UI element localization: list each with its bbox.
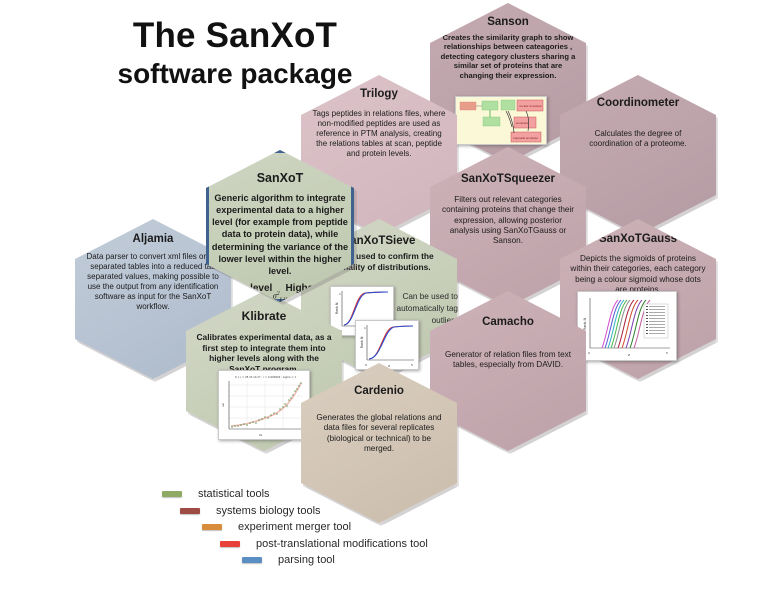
svg-text:f( x ) = 28.33 x0.27 ; r = 0.9: f( x ) = 28.33 x0.27 ; r = 0.999929 ; si… (235, 375, 296, 379)
svg-text:Rank N: Rank N (360, 336, 364, 348)
legend-swatch (220, 541, 240, 547)
legend-label: parsing tool (278, 554, 335, 566)
legend-swatch (202, 524, 222, 530)
variance-scatter-plot-thumbnail: f( x ) = 28.33 x0.27 ; r = 0.999929 ; si… (218, 370, 310, 440)
hexagon-aljamia-description: Data parser to convert xml files or tab … (83, 252, 223, 312)
legend-item-statistical-tools: statistical tools (162, 488, 480, 500)
legend-swatch (162, 491, 182, 497)
hexagon-klibrate-description: Calibrates experimental data, as a first… (195, 332, 332, 374)
svg-text:5: 5 (666, 351, 668, 355)
legend-item-experiment-merger-tool: experiment merger tool (202, 521, 480, 533)
svg-text:1: 1 (339, 292, 341, 296)
multi-sigmoid-plot-thumbnail: Rank N 0 Z 5 (577, 291, 677, 361)
axis-label-rank: Rank N (583, 317, 587, 330)
svg-text:envelope: envelope (516, 121, 528, 125)
svg-text:nuclear envelope: nuclear envelope (519, 104, 542, 108)
hexagon-coordinometer-description: Calculates the degree of coordination of… (572, 129, 703, 149)
svg-text:Rank N: Rank N (335, 302, 339, 314)
svg-text:0: 0 (588, 351, 590, 355)
title-line-1: The SanXoT (70, 18, 400, 54)
legend-swatch (180, 508, 200, 514)
hexagon-sanxotsqueezer-description: Filters out relevant categories containi… (441, 195, 575, 246)
hexagon-trilogy-description: Tags peptides in relations files, where … (310, 109, 447, 159)
legend-label: statistical tools (198, 488, 270, 500)
legend-swatch (242, 557, 262, 563)
legend-item-parsing-tool: parsing tool (242, 554, 480, 566)
svg-text:Z: Z (628, 353, 630, 357)
legend-item-systems-biology-tools: systems biology tools (180, 505, 480, 517)
svg-text:5: 5 (411, 363, 413, 367)
hexagon-sanson-title: Sanson (430, 16, 586, 28)
poster-canvas: The SanXoT software package Sanson Creat… (0, 0, 778, 599)
svg-text:organelle envelope: organelle envelope (513, 136, 538, 140)
legend-item-ptm-tool: post-translational modifications tool (220, 538, 480, 550)
legend: statistical tools systems biology tools … (150, 488, 480, 571)
page-title: The SanXoT software package (70, 18, 400, 91)
svg-text:Z: Z (388, 364, 390, 368)
hexagon-sanson-description: Creates the similarity graph to show rel… (438, 33, 578, 80)
similarity-graph-thumbnail: nuclear envelope envelope organelle enve… (455, 96, 547, 145)
svg-text:1: 1 (364, 326, 366, 330)
legend-label: post-translational modifications tool (256, 538, 428, 550)
sigmoid-plot-thumbnail-2: Rank N 0 Z 5 1 (355, 320, 419, 370)
title-line-2: software package (70, 56, 400, 91)
svg-text:0: 0 (365, 363, 367, 367)
hexagon-sanxot-description: Generic algorithm to integrate experimen… (210, 192, 349, 277)
legend-label: systems biology tools (216, 505, 321, 517)
hexagon-camacho-description: Generator of relation files from text ta… (441, 350, 575, 371)
legend-label: experiment merger tool (238, 521, 351, 533)
hexagon-sanxotgauss-description: Depicts the sigmoids of proteins within … (569, 254, 706, 295)
hexagon-cardenio-description: Generates the global relations and data … (312, 413, 446, 454)
